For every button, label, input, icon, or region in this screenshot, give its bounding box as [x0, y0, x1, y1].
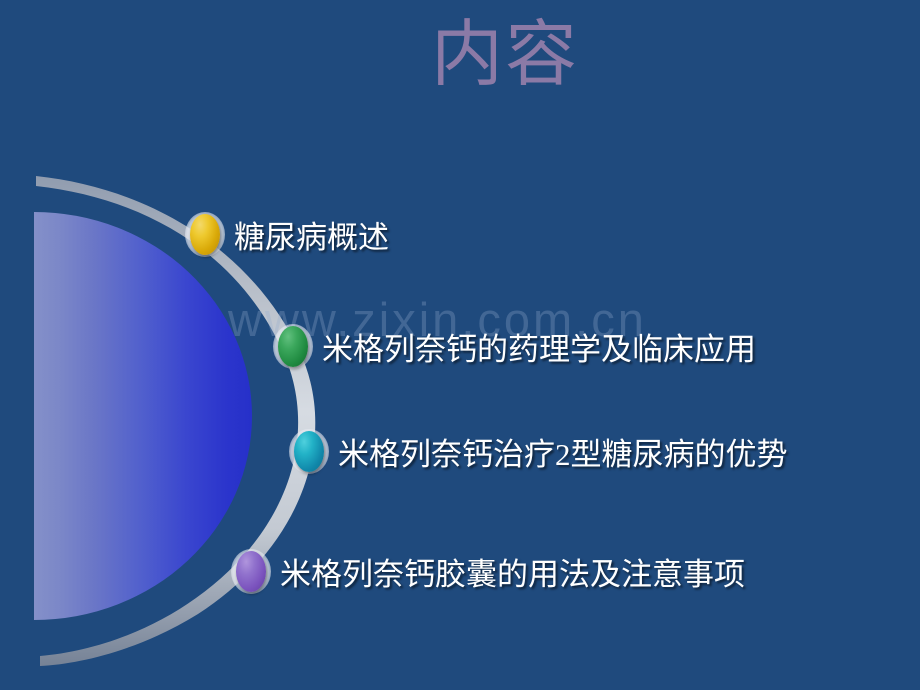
bullet-orb-teal-icon [294, 431, 324, 472]
slide-title: 内容 [0, 18, 920, 94]
bullet-label-4: 米格列奈钙胶囊的用法及注意事项 [280, 549, 745, 594]
bullet-item-4[interactable]: 米格列奈钙胶囊的用法及注意事项 [236, 549, 745, 594]
bullet-item-1[interactable]: 糖尿病概述 [190, 212, 389, 257]
bullet-label-1: 糖尿病概述 [234, 212, 389, 257]
bullet-item-3[interactable]: 米格列奈钙治疗2型糖尿病的优势 [294, 429, 788, 474]
bullet-label-3: 米格列奈钙治疗2型糖尿病的优势 [338, 429, 788, 474]
bullet-label-2: 米格列奈钙的药理学及临床应用 [322, 324, 756, 369]
bullet-orb-purple-icon [236, 551, 266, 592]
presentation-slide: www.zixin.com.cn 内容 糖尿病概述 米格列奈钙的药理学及临床应用… [0, 0, 920, 690]
bullet-orb-green-icon [278, 326, 308, 367]
orb-body [190, 214, 220, 255]
bullet-orb-yellow-icon [190, 214, 220, 255]
orb-body [294, 431, 324, 472]
orb-body [278, 326, 308, 367]
bullet-item-2[interactable]: 米格列奈钙的药理学及临床应用 [278, 324, 756, 369]
orb-body [236, 551, 266, 592]
